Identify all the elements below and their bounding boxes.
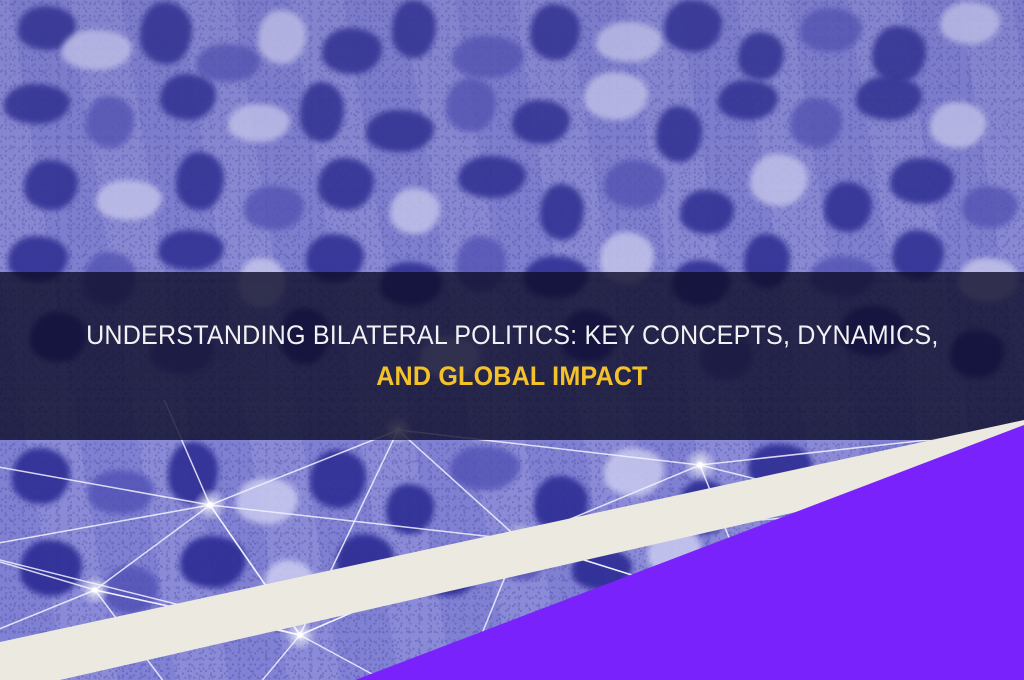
article-hero-banner: UNDERSTANDING BILATERAL POLITICS: KEY CO… — [0, 0, 1024, 680]
hero-title: UNDERSTANDING BILATERAL POLITICS: KEY CO… — [0, 272, 1024, 440]
bottom-diagonal-shapes — [0, 420, 1024, 680]
hero-title-line-2: AND GLOBAL IMPACT — [376, 360, 647, 393]
hero-title-line-1: UNDERSTANDING BILATERAL POLITICS: KEY CO… — [86, 319, 938, 352]
